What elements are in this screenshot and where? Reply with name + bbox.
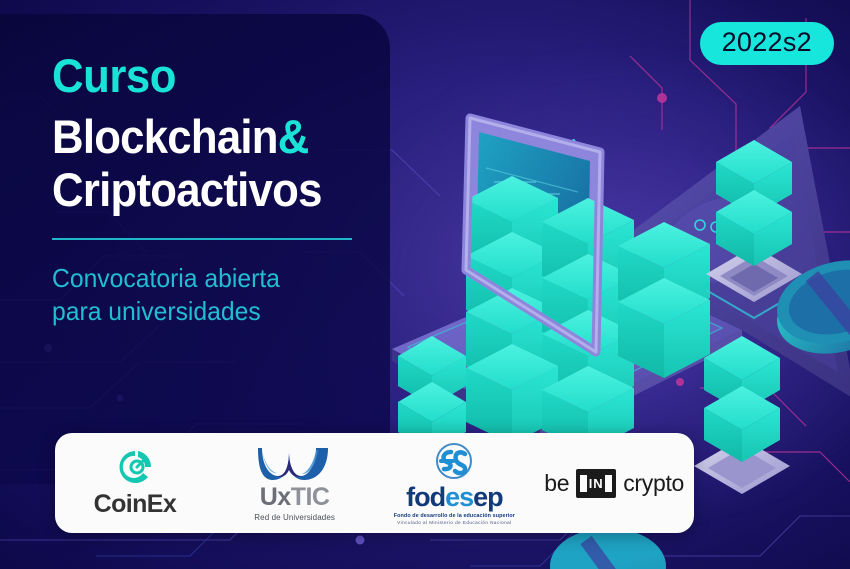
term-badge: 2022s2 (700, 22, 834, 65)
subtitle-line-2: para universidades (52, 295, 366, 328)
logo-fodesep[interactable]: fodesep Fondo de desarrollo de la educac… (375, 433, 535, 533)
coinex-wordmark: CoinEx (94, 490, 177, 519)
subtitle-line-1: Convocatoria abierta (52, 262, 366, 295)
beincrypto-in-badge: IN (576, 469, 616, 498)
logo-beincrypto[interactable]: be IN crypto (534, 433, 694, 533)
coinex-icon (112, 447, 158, 487)
beincrypto-crypto-text: crypto (623, 470, 684, 497)
headline-block: Curso Blockchain& Criptoactivos Convocat… (52, 52, 382, 328)
promo-banner: 2022s2 Curso Blockchain& Criptoactivos C… (0, 0, 850, 569)
headline-ampersand: & (278, 110, 309, 163)
uxtic-ux-text: Ux (260, 483, 291, 511)
fodesep-icon (431, 442, 477, 482)
beincrypto-wordmark: be IN crypto (544, 469, 684, 498)
headline-line-criptoactivos: Criptoactivos (52, 164, 359, 217)
headline-divider (52, 238, 352, 240)
uxtic-tic-text: TIC (291, 483, 330, 511)
fodesep-es-text: es (445, 482, 473, 512)
logo-coinex[interactable]: CoinEx (55, 433, 215, 533)
headline-line-curso: Curso (52, 52, 359, 101)
fodesep-wordmark: fodesep (406, 484, 503, 511)
headline-line-blockchain: Blockchain& (52, 111, 359, 164)
fodesep-ep-text: ep (473, 482, 503, 512)
fodesep-tagline-1: Fondo de desarrollo de la educación supe… (394, 513, 515, 519)
crypto-coin-bottom (550, 528, 666, 569)
beincrypto-be-text: be (544, 470, 569, 497)
fodesep-tagline-2: Vinculado al Ministerio de Educación Nac… (397, 520, 511, 525)
partner-logo-bar: CoinEx UxTIC Red de Universidades fodese… (55, 433, 694, 533)
uxtic-tagline: Red de Universidades (254, 513, 335, 522)
uxtic-wordmark: UxTIC (260, 483, 330, 512)
subtitle-block: Convocatoria abierta para universidades (52, 262, 366, 328)
headline-blockchain-text: Blockchain (52, 110, 278, 163)
cube-tower-right-bottom (694, 336, 790, 494)
uxtic-icon (256, 444, 334, 482)
logo-uxtic[interactable]: UxTIC Red de Universidades (215, 433, 375, 533)
fodesep-fod-text: fod (406, 482, 445, 512)
